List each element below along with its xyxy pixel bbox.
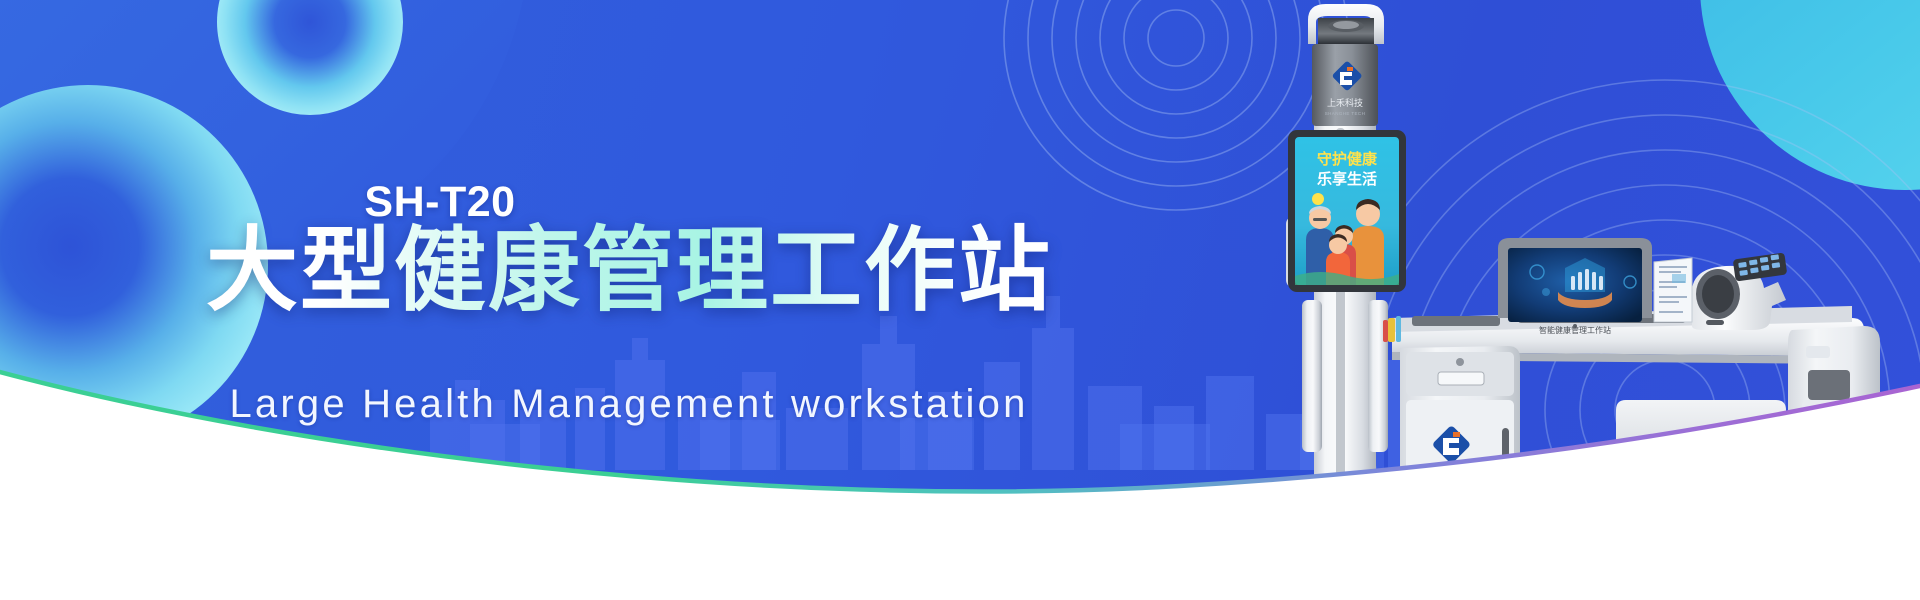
kiosk-brand-subtext: SHANGHE TECH xyxy=(1325,111,1365,116)
kiosk-unit: 上禾科技 SHANGHE TECH 守护健康 乐享生活 xyxy=(1280,4,1416,558)
kiosk-screen-line2: 乐享生活 xyxy=(1317,170,1377,188)
product-banner: SH-T20 大型健康管理工作站 Large Health Management… xyxy=(0,0,1920,600)
cabinet-card-slot xyxy=(1438,372,1484,385)
kiosk-screen-line1: 守护健康 xyxy=(1317,150,1378,168)
document-holder xyxy=(1654,258,1692,322)
monitor-caption: 智能健康管理工作站 xyxy=(1539,325,1611,335)
cabinet-indicator xyxy=(1456,358,1464,366)
product-shadow xyxy=(1300,550,1900,582)
desk-monitor: 智能健康管理工作站 xyxy=(1498,238,1652,335)
printer-unit xyxy=(1616,400,1786,524)
desk-unit: 上禾科技 SHANGHE TECH xyxy=(1383,238,1880,557)
cabinet-door-handle xyxy=(1502,428,1509,460)
kiosk-brand-text: 上禾科技 xyxy=(1327,97,1363,109)
cabinet-brand-text: 上禾科技 xyxy=(1426,471,1474,485)
product-image: 上禾科技 SHANGHE TECH 守护健康 乐享生活 xyxy=(1240,0,1920,600)
cabinet-brand-subtext: SHANGHE TECH xyxy=(1427,488,1473,494)
